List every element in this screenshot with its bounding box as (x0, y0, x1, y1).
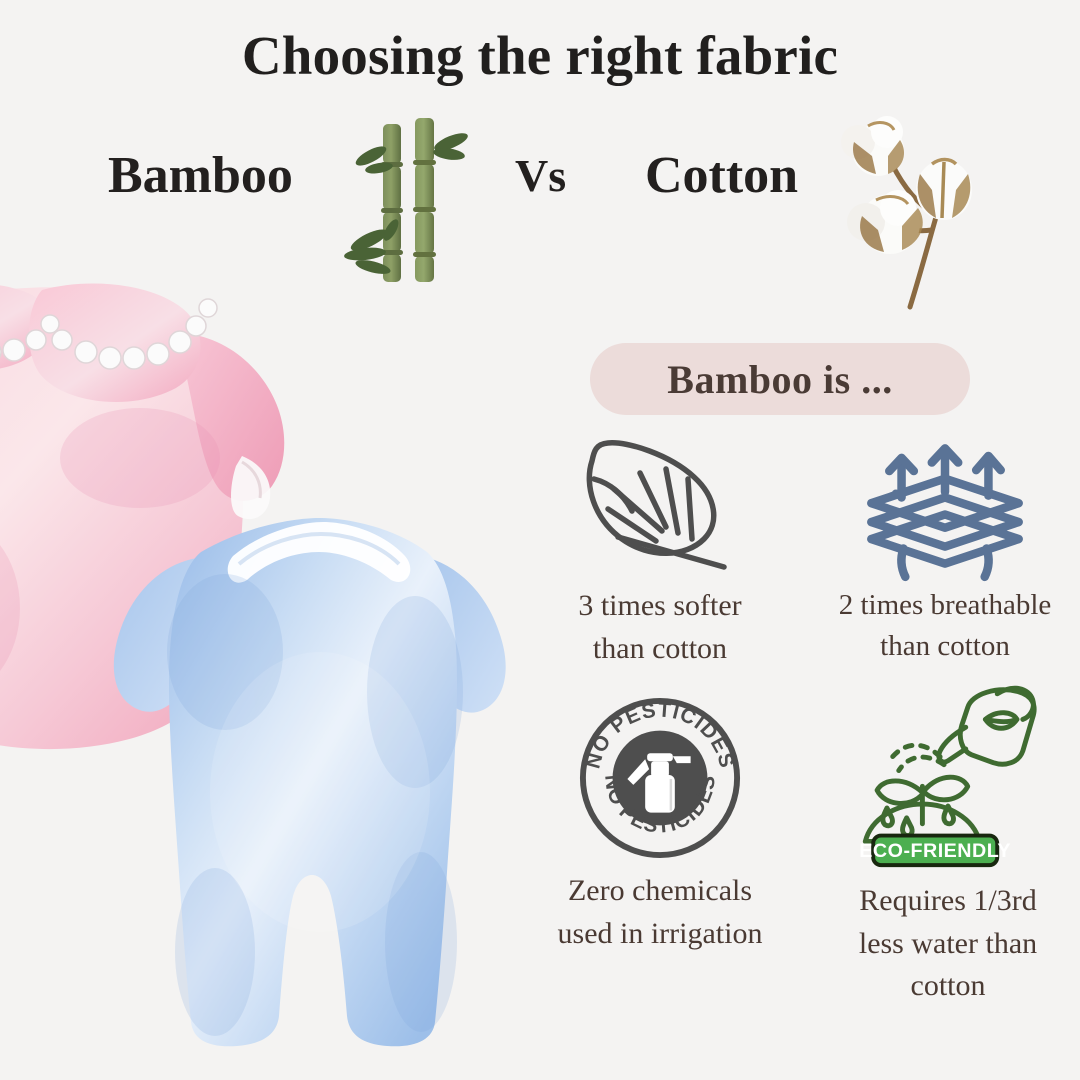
feature-caption-line3: cotton (808, 965, 1080, 1008)
feature-caption-line1: Zero chemicals (520, 870, 800, 913)
feature-caption-line1: 2 times breathable (800, 585, 1080, 626)
cotton-branch-illustration (832, 112, 1047, 317)
eco-friendly-badge: ECO-FRIENDLY (859, 836, 1011, 866)
feature-caption-line2: than cotton (800, 626, 1080, 667)
comparison-left-label: Bamboo (108, 146, 293, 205)
feature-caption-line2: less water than (808, 923, 1080, 966)
feature-caption: 2 times breathable than cotton (800, 585, 1080, 667)
feather-icon (520, 432, 800, 577)
feature-caption-line2: used in irrigation (520, 913, 800, 956)
feature-caption-line2: than cotton (520, 628, 800, 671)
comparison-versus-label: Vs (515, 149, 566, 202)
bamboo-stalks-illustration (345, 112, 475, 284)
feature-grid: 3 times softer than cotton (520, 432, 1080, 1080)
watering-can-sprout-icon: ECO-FRIENDLY (808, 680, 1080, 872)
feature-caption: Requires 1/3rd less water than cotton (808, 880, 1080, 1008)
page-title: Choosing the right fabric (0, 24, 1080, 87)
blue-baby-romper-watercolor (105, 512, 525, 1057)
no-pesticides-badge-icon: NO PESTICIDES NO PESTICIDES (520, 690, 800, 862)
feature-caption: 3 times softer than cotton (520, 585, 800, 670)
feature-caption-line1: 3 times softer (520, 585, 800, 628)
feature-item-less-water: ECO-FRIENDLY Requires 1/3rd less water t… (808, 680, 1080, 1008)
feature-item-softer: 3 times softer than cotton (520, 432, 800, 670)
eco-friendly-badge-label: ECO-FRIENDLY (859, 840, 1011, 862)
bamboo-is-banner-label: Bamboo is ... (667, 356, 892, 403)
feature-item-no-pesticides: NO PESTICIDES NO PESTICIDES (520, 690, 800, 955)
breathable-layers-icon (800, 432, 1080, 577)
bamboo-is-banner: Bamboo is ... (590, 343, 970, 415)
comparison-right-label: Cotton (645, 146, 798, 205)
feature-caption-line1: Requires 1/3rd (808, 880, 1080, 923)
infographic-canvas: Choosing the right fabric Bamboo Vs Cott… (0, 0, 1080, 1080)
feature-item-breathable: 2 times breathable than cotton (800, 432, 1080, 667)
feature-caption: Zero chemicals used in irrigation (520, 870, 800, 955)
